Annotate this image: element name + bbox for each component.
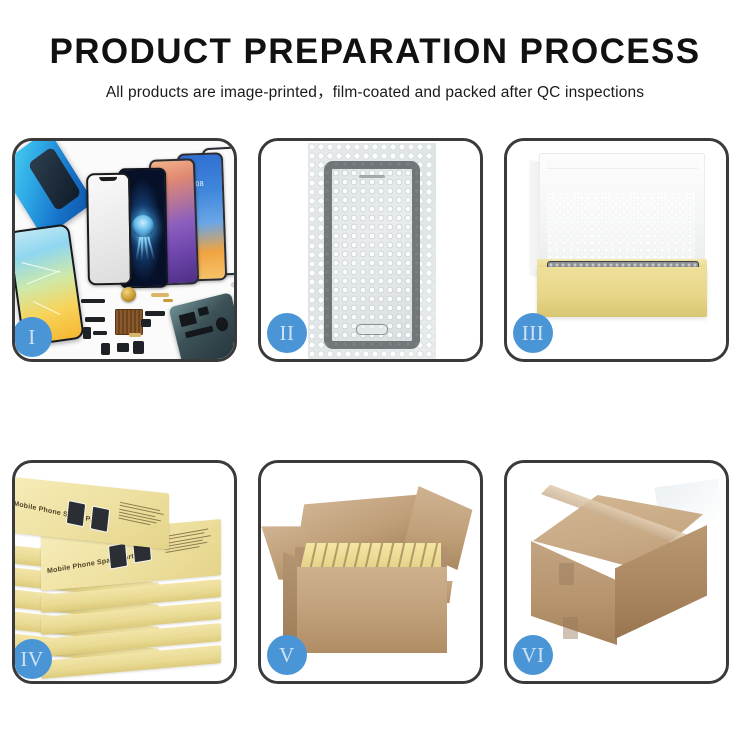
step-badge-5: V [267, 635, 307, 675]
jellyfish-tentacle [141, 237, 143, 261]
wrapped-phone-screen [324, 161, 420, 349]
box-product-thumbnail [108, 543, 128, 570]
antenna-strip-part [81, 299, 105, 303]
page-subtitle: All products are image-printed，film-coat… [0, 80, 750, 102]
process-steps-grid: 10:08 [12, 138, 738, 684]
mailer-box-tray [537, 267, 707, 317]
crack-line [33, 301, 60, 315]
process-step-panel-2[interactable]: II [258, 138, 483, 362]
flex-cable-part [151, 293, 169, 297]
jellyfish-tentacle [135, 237, 140, 261]
step-1-illustration: 10:08 [15, 141, 234, 359]
blue-adhesive-film [15, 141, 94, 239]
board-chip [179, 312, 197, 328]
phone-notch [99, 177, 117, 181]
step-3-illustration: III [507, 141, 726, 359]
box-product-thumbnail [90, 505, 110, 532]
flex-connector-part [83, 327, 91, 339]
speaker-module-part [121, 287, 136, 302]
sim-tray-part [101, 343, 110, 355]
carton-front-face [297, 567, 447, 653]
box-product-thumbnail [66, 500, 86, 527]
step-2-illustration: II [261, 141, 480, 359]
connector-part [163, 299, 173, 302]
phone-logic-board [168, 292, 234, 359]
flex-connector-part [93, 331, 107, 335]
bubble-wrap-sheet [308, 143, 436, 359]
process-step-panel-5[interactable]: V [258, 460, 483, 684]
board-camera-ring [215, 316, 230, 332]
phone-white-bezel-screen [86, 173, 132, 286]
step-6-illustration: VI [507, 463, 726, 681]
step-4-illustration: Mobile Phone Spare Parts Mobile Phone Sp… [15, 463, 234, 681]
earpiece-slot [359, 175, 385, 178]
process-step-panel-6[interactable]: VI [504, 460, 729, 684]
step-badge-2: II [267, 313, 307, 353]
camera-flex-part [145, 311, 165, 316]
board-chip [185, 326, 214, 339]
flex-cable-part [129, 333, 141, 337]
step-5-illustration: V [261, 463, 480, 681]
ic-chip-part [117, 343, 129, 352]
page-title: PRODUCT PREPARATION PROCESS [0, 34, 750, 71]
vibrator-part [85, 317, 105, 322]
speaker-box-part [133, 341, 144, 354]
carton-hand-hole [563, 617, 578, 639]
step-badge-3: III [513, 313, 553, 353]
crack-line [27, 270, 61, 284]
spare-parts-group [77, 287, 234, 359]
process-step-panel-3[interactable]: III [504, 138, 729, 362]
camera-module-part [141, 319, 151, 327]
step-badge-6: VI [513, 635, 553, 675]
process-step-panel-4[interactable]: Mobile Phone Spare Parts Mobile Phone Sp… [12, 460, 237, 684]
board-chip [198, 306, 210, 316]
page-header: PRODUCT PREPARATION PROCESS All products… [0, 0, 750, 102]
jellyfish-body [132, 214, 154, 236]
shield-mesh-part [115, 309, 143, 335]
process-step-panel-1[interactable]: 10:08 [12, 138, 237, 362]
carton-hand-hole [559, 563, 574, 585]
home-button [356, 324, 388, 335]
